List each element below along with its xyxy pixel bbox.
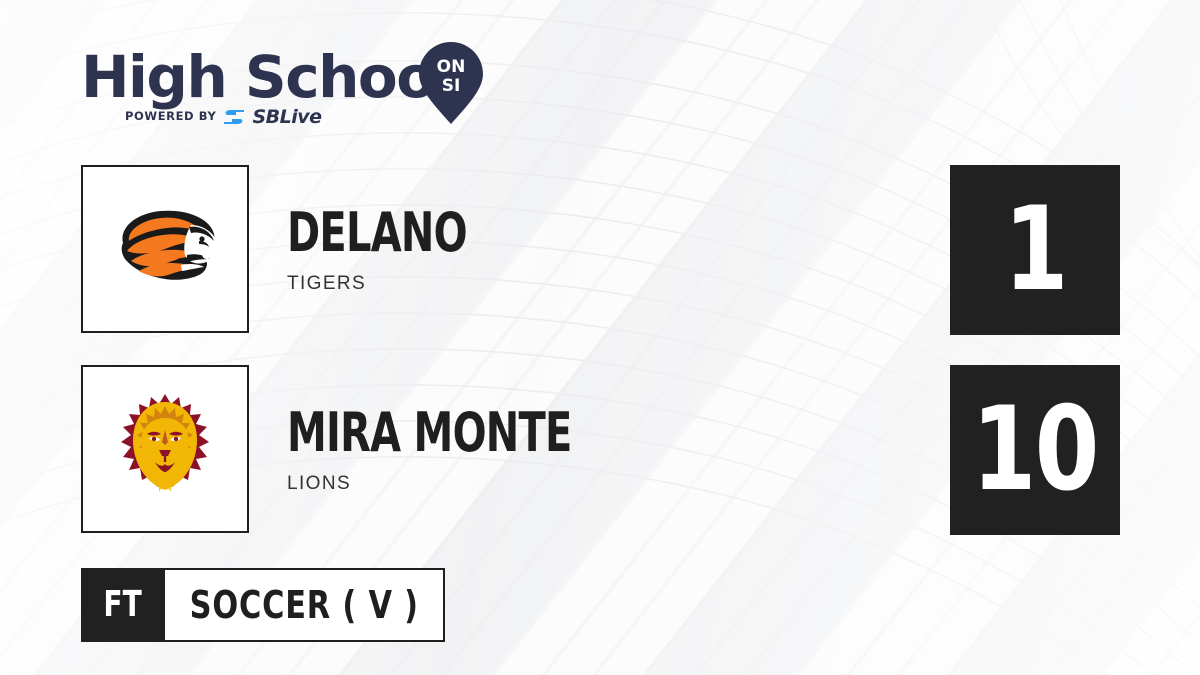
team-score-box: 1 [950, 165, 1120, 335]
pin-label-on: ON [418, 59, 484, 76]
status-bar: FT SOCCER ( V ) [81, 568, 445, 642]
tiger-head-logo-icon [103, 197, 227, 301]
pin-label-si: SI [418, 78, 484, 95]
team-logo-box [81, 365, 249, 533]
team-mascot: LIONS [287, 474, 672, 493]
game-status-badge: FT [81, 568, 165, 642]
team-score-box: 10 [950, 365, 1120, 535]
team-score: 10 [972, 392, 1098, 508]
team-text-block: DELANO TIGERS [287, 165, 530, 333]
sport-label: SOCCER ( V ) [189, 586, 418, 624]
team-text-block: MIRA MONTE LIONS [287, 365, 672, 533]
sblive-wordmark: SBLive [252, 108, 321, 127]
team-logo-box [81, 165, 249, 333]
team-score: 1 [1004, 192, 1067, 308]
lion-head-logo-icon [109, 390, 221, 508]
sport-label-panel: SOCCER ( V ) [165, 568, 445, 642]
team-row: DELANO TIGERS 1 [0, 165, 1200, 335]
powered-by-block: POWERED BY SBLive [125, 108, 322, 126]
team-mascot: TIGERS [287, 274, 530, 293]
powered-by-label: POWERED BY [125, 111, 216, 123]
on-si-pin-icon: ON SI [418, 41, 484, 125]
team-name: MIRA MONTE [287, 406, 572, 460]
game-status-label: FT [104, 587, 142, 623]
scoreboard-graphic: High School ON SI POWERED BY SBLive [0, 0, 1200, 675]
brand-wordmark: High School [81, 48, 453, 106]
sblive-s-mark-icon [223, 108, 245, 126]
team-name: DELANO [287, 206, 467, 260]
team-row: MIRA MONTE LIONS 10 [0, 365, 1200, 535]
